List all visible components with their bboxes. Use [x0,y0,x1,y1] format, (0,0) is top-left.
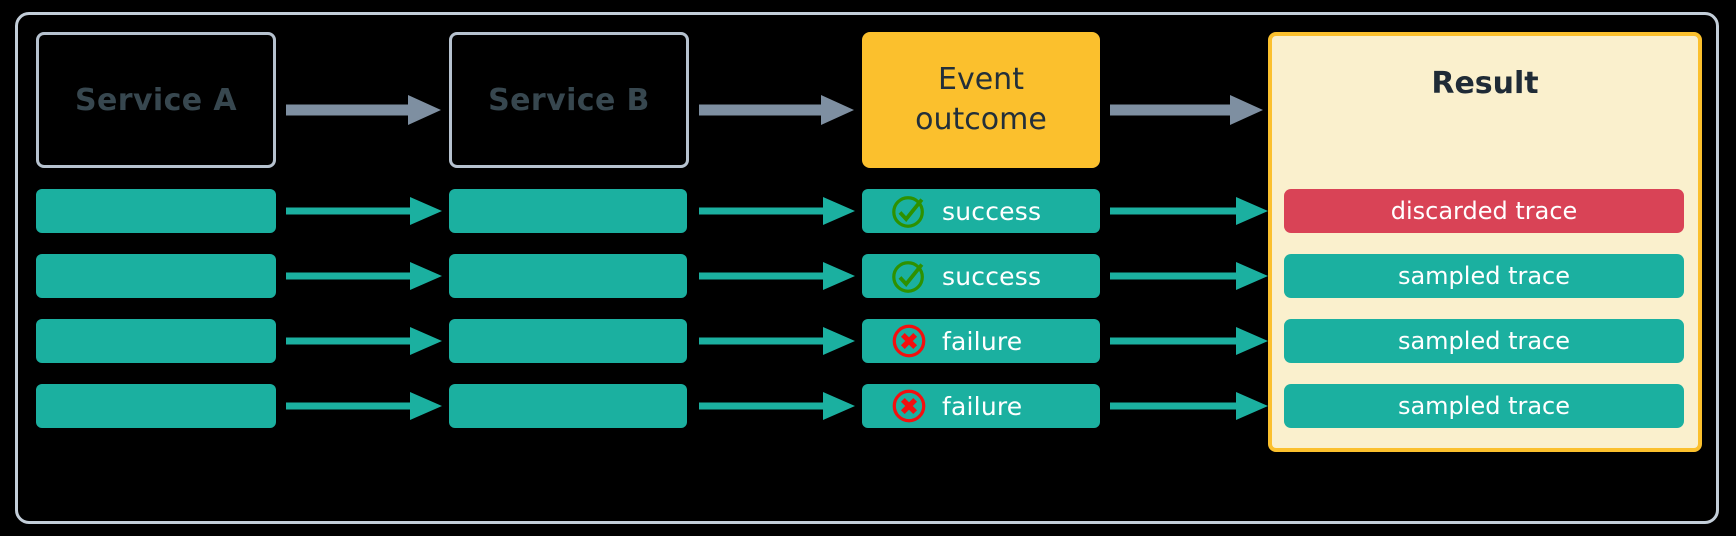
column-header-service-a-label: Service A [75,83,237,118]
outcome-pill-row-3: failure [862,319,1100,363]
table-row [36,189,276,233]
result-badge-row-2: sampled trace [1284,254,1684,298]
table-row [449,384,687,428]
outcome-label: failure [942,327,1022,356]
result-badge-label: sampled trace [1398,262,1570,290]
table-row [449,189,687,233]
header-arrow-a-to-b [286,90,446,130]
row-arrow-b-to-event [699,191,859,231]
outcome-pill-row-1: success [862,189,1100,233]
column-header-service-b: Service B [449,32,689,168]
result-badge-row-3: sampled trace [1284,319,1684,363]
row-arrow-event-to-result [1110,386,1270,426]
row-arrow-a-to-b [286,386,446,426]
row-arrow-a-to-b [286,321,446,361]
result-badge-row-1: discarded trace [1284,189,1684,233]
row-arrow-event-to-result [1110,191,1270,231]
table-row [449,319,687,363]
outcome-label: success [942,197,1041,226]
check-circle-icon [890,192,928,230]
row-arrow-event-to-result [1110,321,1270,361]
row-arrow-b-to-event [699,321,859,361]
column-header-service-b-label: Service B [488,83,650,118]
x-circle-icon [890,322,928,360]
table-row [449,254,687,298]
column-header-service-a: Service A [36,32,276,168]
row-arrow-a-to-b [286,256,446,296]
header-arrow-event-to-result [1110,90,1268,130]
header-arrow-b-to-event [699,90,859,130]
outcome-label: success [942,262,1041,291]
table-row [36,254,276,298]
check-circle-icon [890,257,928,295]
table-row [36,384,276,428]
x-circle-icon [890,387,928,425]
column-header-event-outcome-line1: Event [915,60,1047,100]
diagram-canvas: Service A Service B Event outcome Result [0,0,1736,536]
column-header-event-outcome: Event outcome [862,32,1100,168]
row-arrow-event-to-result [1110,256,1270,296]
outcome-pill-row-2: success [862,254,1100,298]
result-badge-label: sampled trace [1398,392,1570,420]
result-badge-label: discarded trace [1391,197,1578,225]
outcome-pill-row-4: failure [862,384,1100,428]
result-panel-title: Result [1272,66,1698,101]
result-badge-label: sampled trace [1398,327,1570,355]
column-header-event-outcome-line2: outcome [915,100,1047,140]
result-badge-row-4: sampled trace [1284,384,1684,428]
row-arrow-a-to-b [286,191,446,231]
row-arrow-b-to-event [699,256,859,296]
table-row [36,319,276,363]
outcome-label: failure [942,392,1022,421]
row-arrow-b-to-event [699,386,859,426]
